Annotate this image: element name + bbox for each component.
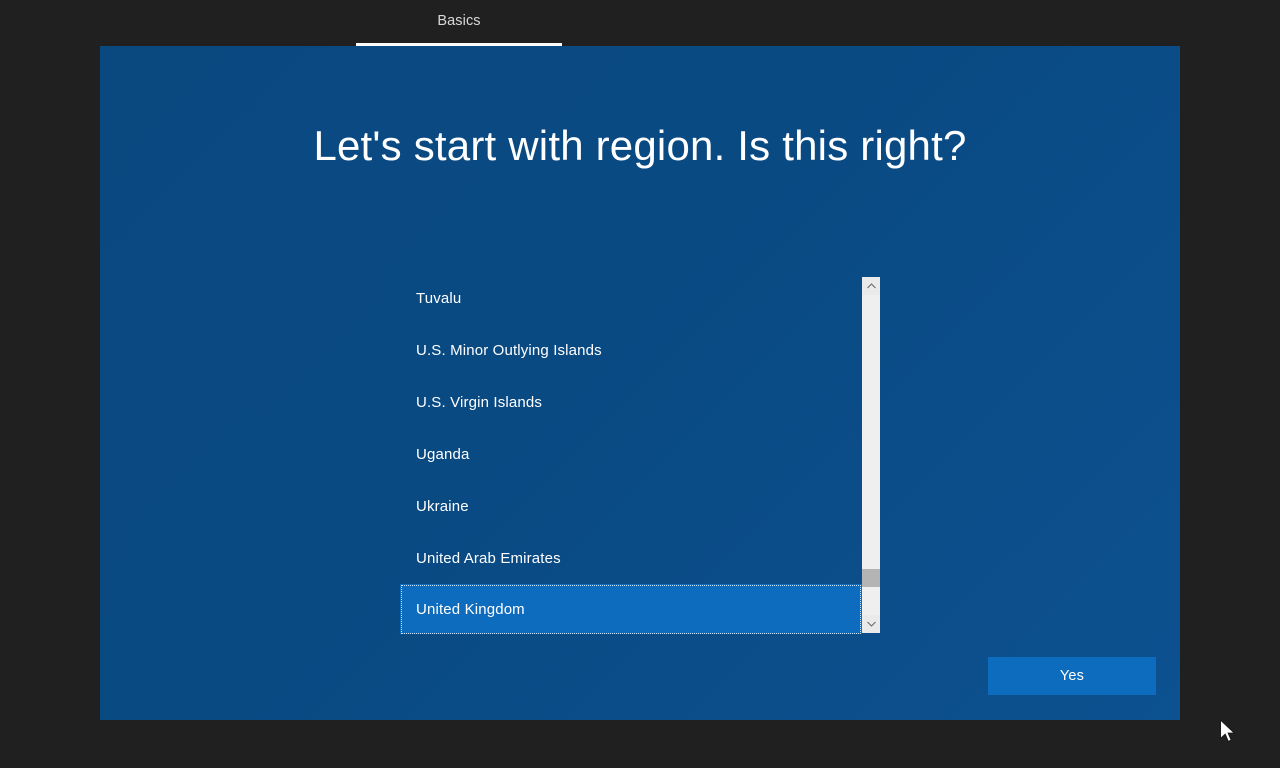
chevron-up-icon: [867, 283, 876, 289]
scrollbar-up-button[interactable]: [862, 277, 880, 295]
list-item[interactable]: Uganda: [400, 428, 862, 480]
list-item[interactable]: Ukraine: [400, 480, 862, 532]
scrollbar-track[interactable]: [862, 295, 880, 615]
list-item-label: United Kingdom: [416, 601, 525, 618]
list-item-label: Tuvalu: [416, 290, 461, 307]
chevron-down-icon: [867, 621, 876, 627]
scrollbar-down-button[interactable]: [862, 615, 880, 633]
list-item-label: United Arab Emirates: [416, 550, 561, 567]
oobe-panel: Let's start with region. Is this right? …: [100, 46, 1180, 720]
list-item[interactable]: U.S. Minor Outlying Islands: [400, 324, 862, 376]
scrollbar[interactable]: [862, 277, 880, 633]
list-item-selected[interactable]: United Kingdom: [400, 584, 862, 634]
tab-strip: Basics: [0, 0, 1280, 46]
list-item[interactable]: Tuvalu: [400, 272, 862, 324]
yes-button[interactable]: Yes: [988, 657, 1156, 695]
tab-basics[interactable]: Basics: [356, 0, 562, 46]
tab-basics-label: Basics: [437, 14, 480, 33]
list-item-label: Uganda: [416, 446, 469, 463]
list-item-label: Ukraine: [416, 498, 469, 515]
list-item-label: U.S. Virgin Islands: [416, 394, 542, 411]
oobe-screen: Basics Let's start with region. Is this …: [0, 0, 1280, 768]
bottom-bar: [0, 720, 1280, 768]
list-item[interactable]: U.S. Virgin Islands: [400, 376, 862, 428]
scrollbar-thumb[interactable]: [862, 569, 880, 587]
list-item-label: U.S. Minor Outlying Islands: [416, 342, 602, 359]
page-title: Let's start with region. Is this right?: [100, 122, 1180, 170]
list-item[interactable]: United Arab Emirates: [400, 532, 862, 584]
region-list[interactable]: Tuvalu U.S. Minor Outlying Islands U.S. …: [400, 272, 862, 634]
region-listbox[interactable]: Tuvalu U.S. Minor Outlying Islands U.S. …: [400, 272, 880, 634]
